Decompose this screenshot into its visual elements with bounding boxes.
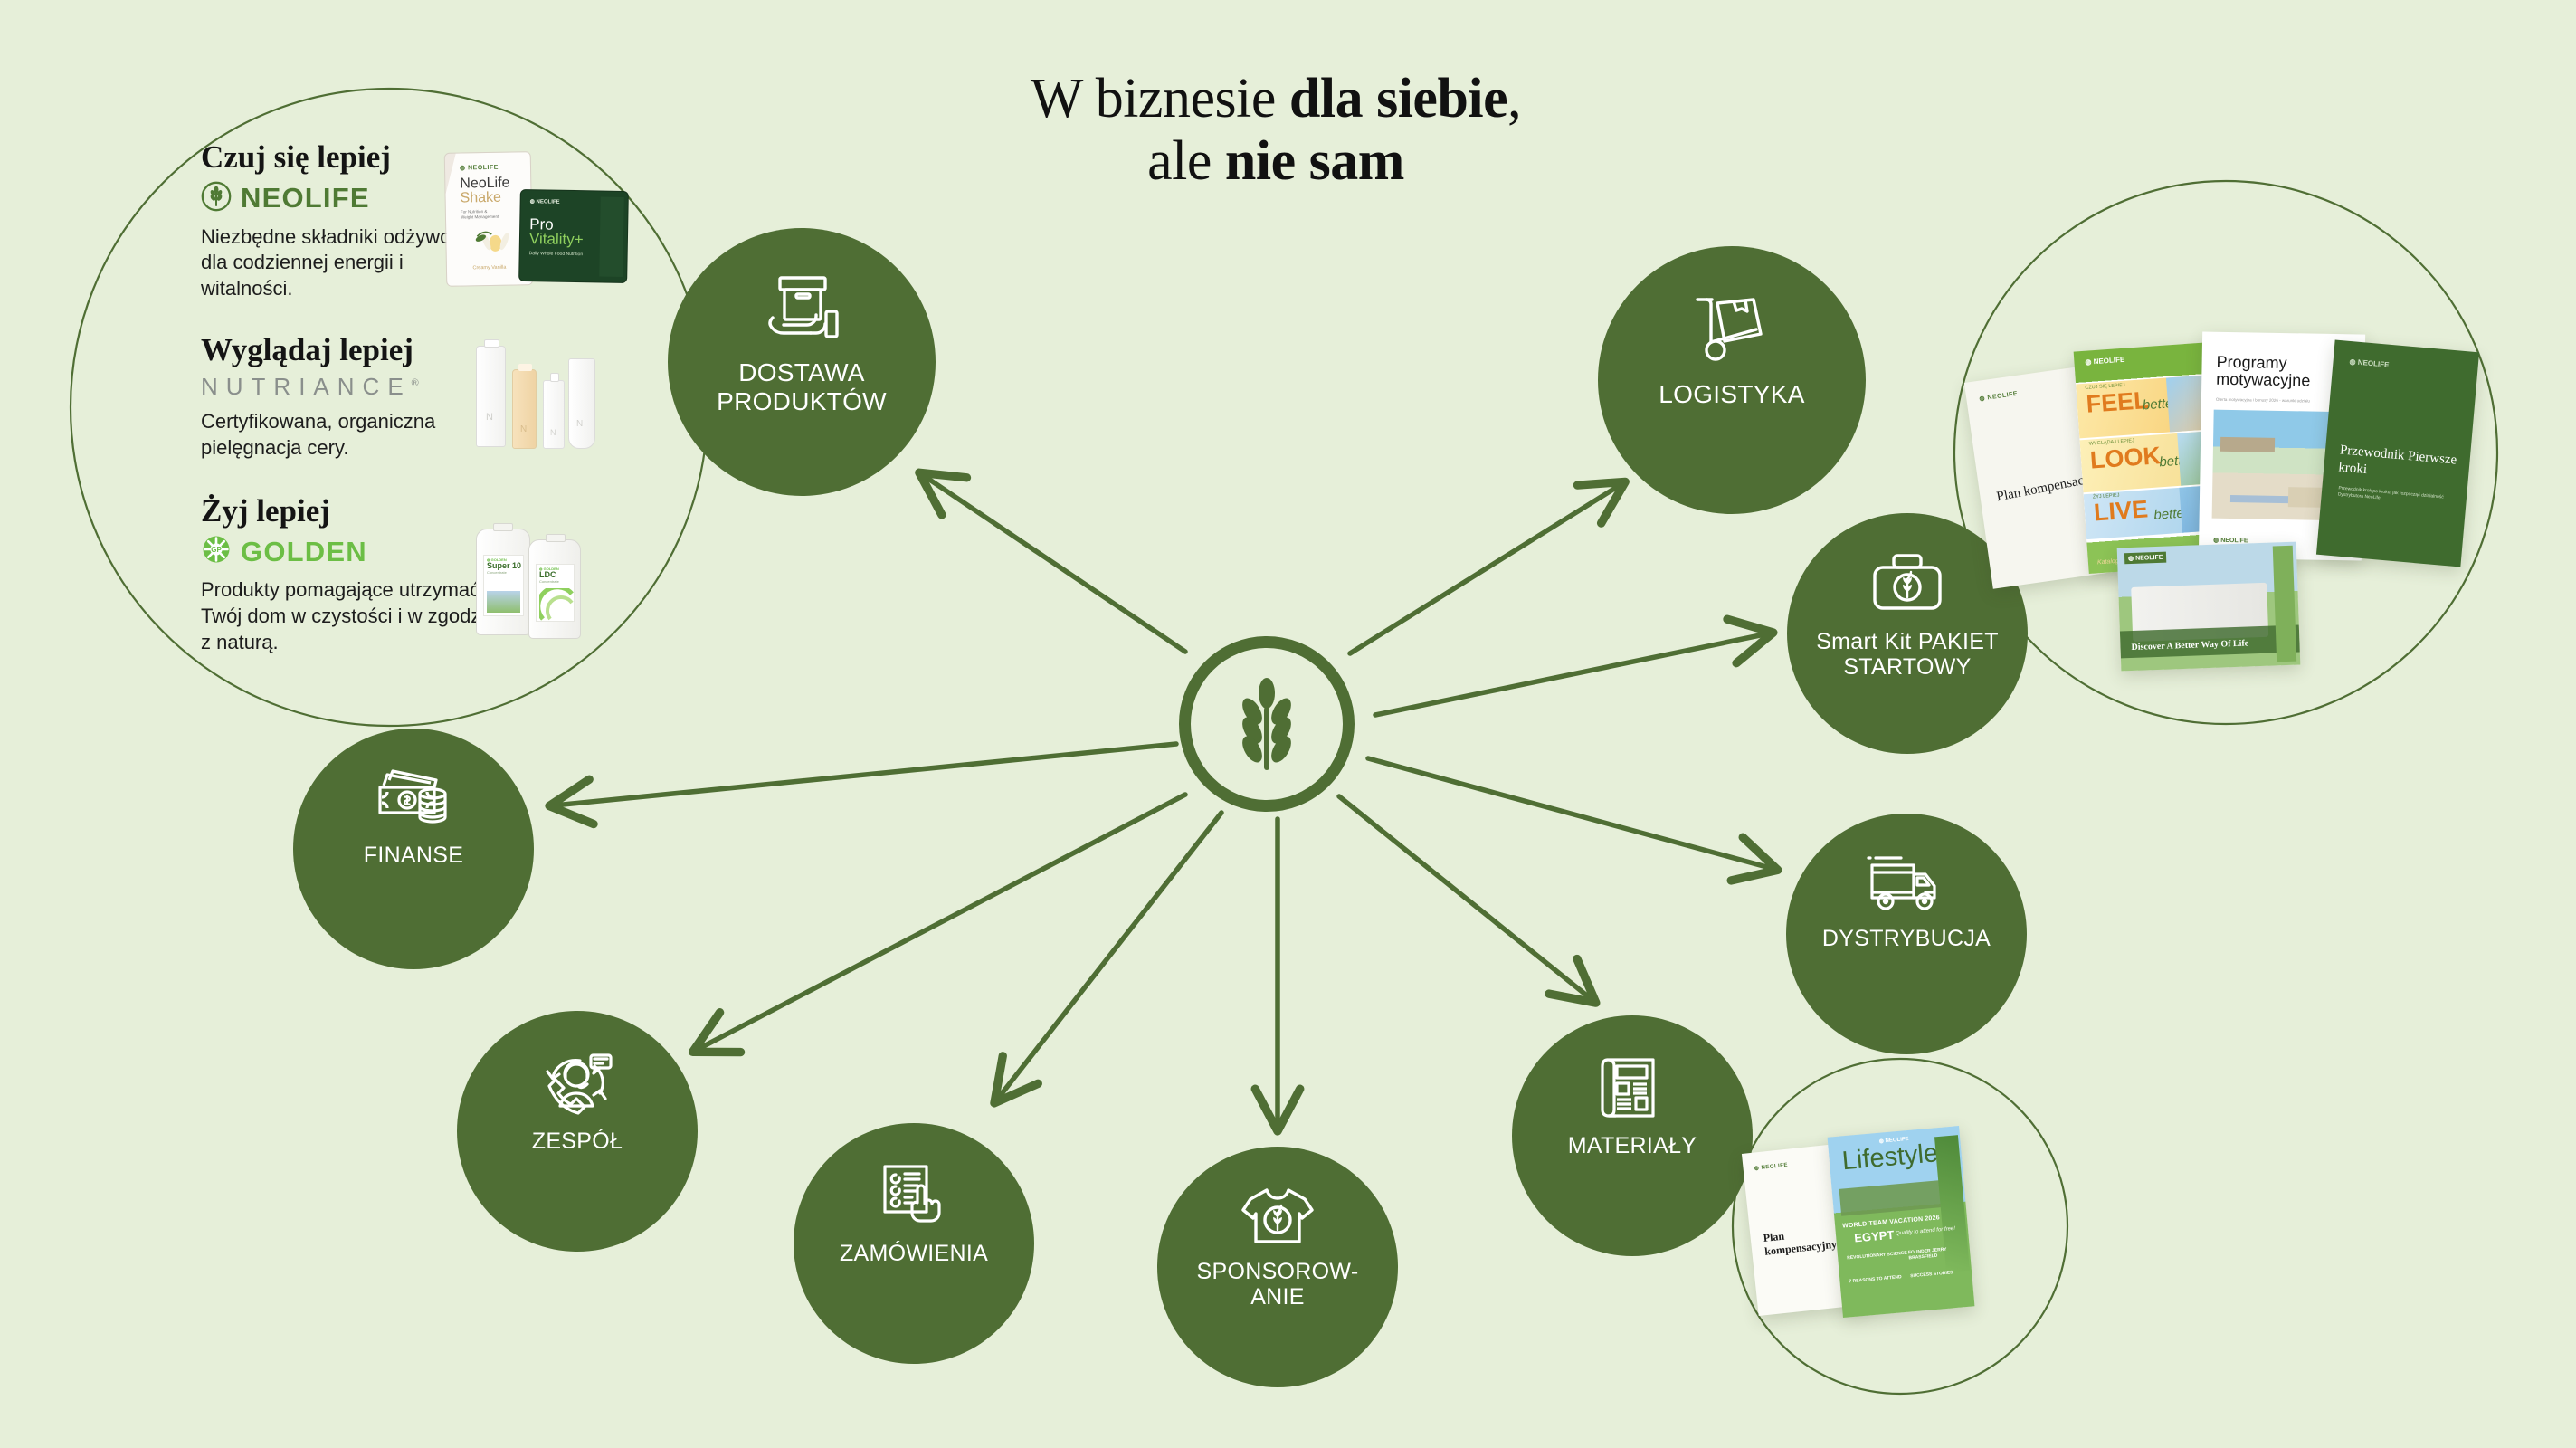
node-zamowienia[interactable]: ZAMÓWIENIA	[794, 1123, 1034, 1364]
money-coins-icon	[375, 767, 452, 835]
mini-logo: ◍ NEOLIFE	[2085, 356, 2124, 367]
arrow-to-zamowienia	[997, 813, 1221, 1100]
product-pro-vitality: ◍ NEOLIFE Pro Vitality+ Daily Whole Food…	[518, 189, 629, 283]
bottle: N	[512, 369, 537, 449]
tshirt-wheat-icon	[1240, 1186, 1316, 1252]
product-variant: Shake	[460, 191, 501, 205]
node-label: LOGISTYKA	[1653, 380, 1810, 408]
product-subtitle: Daily Whole Food Nutrition	[529, 251, 584, 257]
bottle: N	[543, 380, 565, 449]
magazine-title: Lifestyle	[1841, 1140, 1940, 1175]
node-label: DOSTAWA PRODUKTÓW	[711, 358, 892, 415]
magazine-bullet: REVOLUTIONARY SCIENCE	[1847, 1251, 1907, 1262]
briefcase-wheat-icon	[1869, 552, 1945, 622]
node-logistyka[interactable]: LOGISTYKA	[1598, 246, 1866, 514]
arrow-to-finanse	[554, 744, 1176, 805]
node-label: MATERIAŁY	[1563, 1133, 1703, 1158]
infographic-canvas: W biznesie dla siebie, ale nie sam Czuj …	[0, 0, 2576, 1448]
bottle: ◍ GOLDEN Super 10 Concentrate	[476, 529, 530, 635]
node-zespol[interactable]: ZESPÓŁ	[457, 1011, 698, 1252]
brand-heading: Wyglądaj lepiej	[201, 333, 499, 367]
brand-block-golden: Żyj lepiej	[201, 494, 499, 656]
bottle: N	[476, 346, 506, 447]
mini-logo: ◍ NEOLIFE	[460, 164, 499, 172]
magazine-destination: EGYPT	[1854, 1228, 1895, 1245]
brand-logo-row: GP GOLDEN	[201, 534, 499, 569]
brochure-discover-better-way: ◍ NEOLIFE Discover A Better Way Of Life	[2117, 542, 2301, 672]
arrow-to-zespol	[697, 795, 1185, 1050]
support-agent-icon	[538, 1050, 616, 1121]
svg-text:GP: GP	[211, 546, 222, 554]
tube: N	[568, 358, 595, 449]
node-materialy[interactable]: MATERIAŁY	[1512, 1015, 1753, 1256]
brochure-przewodnik-pierwsze-kroki: ◍ NEOLIFE Przewodnik Pierwsze kroki Prze…	[2316, 339, 2479, 567]
brand-block-nutriance: Wyglądaj lepiej NUTRIANCE® Certyfikowana…	[201, 333, 499, 462]
mini-logo: ◍ NEOLIFE	[2349, 357, 2389, 369]
mini-logo: ◍ NEOLIFE	[530, 198, 560, 205]
node-label: Smart Kit PAKIET STARTOWY	[1811, 629, 2004, 680]
title-line1-bold: dla siebie	[1289, 68, 1507, 129]
arrow-to-smartkit	[1375, 633, 1769, 715]
product-golden-set: ◍ GOLDEN Super 10 Concentrate ◍ GOLDEN L…	[471, 523, 606, 639]
wheat-stalk-icon	[1223, 673, 1310, 776]
node-label: FINANSE	[358, 843, 469, 868]
mini-logo: ◍ NEOLIFE	[1754, 1162, 1788, 1172]
brochure-photo	[2212, 410, 2339, 520]
node-label: ZAMÓWIENIA	[834, 1241, 993, 1266]
product-variant: Vitality+	[529, 232, 584, 247]
brochure-title: Programy motywacyjne	[2216, 354, 2340, 391]
node-finanse[interactable]: FINANSE	[293, 729, 534, 969]
brand-heading: Żyj lepiej	[201, 494, 499, 529]
arrow-to-materialy	[1339, 796, 1592, 1000]
wheat-circle-icon	[201, 181, 232, 216]
hand-holding-box-icon	[760, 271, 843, 351]
mini-logo: ◍ NEOLIFE	[1979, 390, 2019, 403]
brand-logo-row: NUTRIANCE®	[201, 373, 499, 401]
catalog-word: LOOK	[2089, 443, 2162, 472]
hand-truck-icon	[1690, 289, 1773, 373]
brochure-title: Przewodnik Pierwsze kroki	[2338, 442, 2458, 486]
node-dostawa-produktow[interactable]: DOSTAWA PRODUKTÓW	[668, 228, 936, 496]
product-name: NeoLife	[460, 176, 509, 191]
arrow-to-logistyka	[1350, 484, 1621, 653]
node-sponsorowanie[interactable]: SPONSOROW- ANIE	[1157, 1147, 1398, 1387]
title-line2-plain: ale	[1147, 130, 1225, 192]
node-label: SPONSOROW- ANIE	[1192, 1259, 1364, 1310]
brand-name: NUTRIANCE®	[201, 373, 419, 401]
node-label: ZESPÓŁ	[527, 1129, 628, 1154]
product-subtitle: For Nutrition &Weight Management	[461, 209, 499, 221]
vanilla-flower-art	[470, 223, 521, 262]
catalog-word: LIVE	[2093, 497, 2149, 525]
hub-node[interactable]	[1179, 636, 1355, 812]
title-line1-tail: ,	[1507, 68, 1521, 129]
product-nutriance-set: N N N N	[467, 333, 612, 460]
gp-flower-icon: GP	[201, 534, 232, 569]
brand-name: GOLDEN	[241, 536, 367, 568]
title-line1-plain: W biznesie	[1031, 68, 1289, 129]
mini-logo: ◍ NEOLIFE	[2124, 552, 2167, 565]
magazine-bullet: 7 REASONS TO ATTEND	[1849, 1274, 1902, 1284]
magazine-lifestyle: ◍ NEOLIFE Lifestyle WORLD TEAM VACATION …	[1828, 1126, 1975, 1318]
node-dystrybucja[interactable]: DYSTRYBUCJA	[1786, 814, 2027, 1054]
brand-name: NEOLIFE	[241, 182, 370, 214]
checklist-hand-icon	[878, 1162, 950, 1234]
arrow-to-dostawa	[923, 475, 1185, 652]
title-line2-bold: nie sam	[1225, 130, 1404, 192]
magazine-bullet: SUCCESS STORIES	[1910, 1270, 1953, 1279]
page-title: W biznesie dla siebie, ale nie sam	[905, 68, 1647, 194]
delivery-truck-icon	[1867, 853, 1946, 919]
brand-description: Certyfikowana, organiczna pielęgnacja ce…	[201, 409, 499, 461]
catalog-word: FEEL	[2086, 388, 2150, 417]
node-label: DYSTRYBUCJA	[1817, 926, 1996, 951]
bottle: ◍ GOLDEN LDC Concentrate	[528, 539, 581, 639]
newspaper-icon	[1597, 1054, 1668, 1126]
arrow-to-dystrybucja	[1368, 758, 1773, 869]
brand-description: Produkty pomagające utrzymać Twój dom w …	[201, 577, 499, 655]
